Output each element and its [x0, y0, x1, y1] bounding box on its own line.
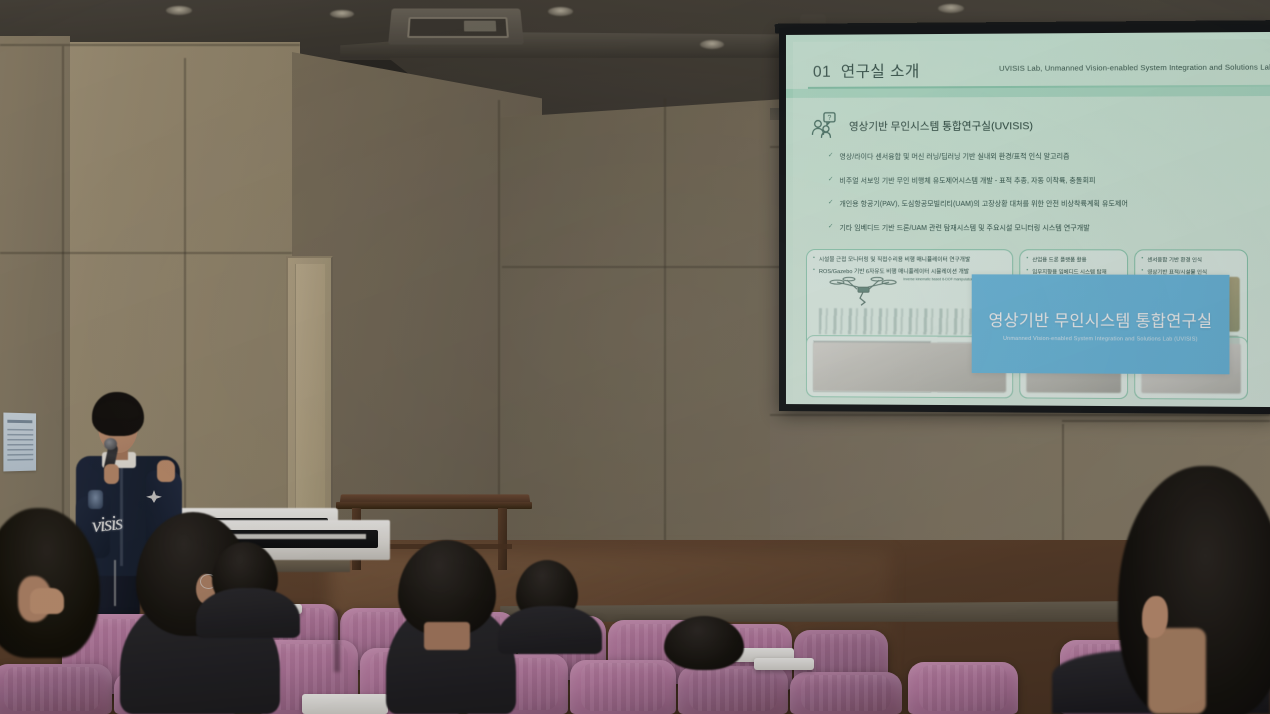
seat-divider — [334, 610, 340, 672]
wall-panel-seam — [664, 98, 666, 598]
downlight-icon — [330, 10, 354, 18]
seat-row-right[interactable] — [908, 662, 1018, 714]
content-box-line: • 시설물 근접 모니터링 및 직접수리용 비행 매니퓰레이터 연구개발 — [813, 255, 1006, 263]
bullet-text: 비주얼 서보잉 기반 무인 비행체 유도제어시스템 개발 - 표적 추종, 자동… — [839, 174, 1095, 184]
posted-notice — [3, 413, 36, 472]
presentation-slide: 01 연구실 소개 UVISIS Lab, Unmanned Vision-en… — [786, 32, 1270, 407]
bullet-dot-icon: • — [1141, 255, 1143, 263]
seat-row-middle[interactable] — [678, 666, 788, 714]
seat-tray[interactable] — [302, 694, 388, 714]
projection-screen: 01 연구실 소개 UVISIS Lab, Unmanned Vision-en… — [779, 25, 1270, 414]
slide-header: 01 연구실 소개 UVISIS Lab, Unmanned Vision-en… — [786, 52, 1270, 87]
notice-body-lines — [7, 429, 33, 463]
lab-title: 영상기반 무인시스템 통합연구실(UVISIS) — [849, 118, 1033, 134]
seat-row-front[interactable] — [0, 664, 112, 714]
slide-title: 연구실 소개 — [841, 63, 920, 80]
cable — [114, 560, 116, 606]
jacket-emblem — [88, 490, 103, 509]
bullet-text: 기타 임베디드 기반 드론/UAM 관련 탐재시스템 및 주요시설 모니터링 시… — [839, 222, 1089, 232]
seat-row-middle[interactable] — [790, 672, 902, 714]
jacket-zipper — [120, 462, 123, 566]
bullet-item: ✓ 개인용 항공기(PAV), 도심항공모빌리티(UAM)의 고장상황 대처를 … — [828, 198, 1128, 208]
overlay-callout: 영상기반 무인시스템 통합연구실 Unmanned Vision-enabled… — [972, 274, 1230, 374]
bullet-list: ✓ 영상/라이다 센서융합 및 머신 러닝/딥러닝 기반 실내외 환경/표적 인… — [828, 150, 1128, 245]
audience-shoulders — [498, 606, 602, 654]
bullet-dot-icon: • — [813, 255, 815, 263]
content-box-text: 센서융합 기반 환경 인식 — [1147, 255, 1202, 263]
svg-text:?: ? — [828, 115, 832, 122]
bullet-item: ✓ 비주얼 서보잉 기반 무인 비행체 유도제어시스템 개발 - 표적 추종, … — [828, 174, 1128, 184]
audience-hand — [30, 588, 64, 614]
lecture-hall-photo: 01 연구실 소개 UVISIS Lab, Unmanned Vision-en… — [0, 0, 1270, 714]
flying-manipulator-drone-icon — [827, 276, 901, 306]
lab-title-row: ? 영상기반 무인시스템 통합연구실(UVISIS) — [810, 110, 1033, 141]
overlay-subtitle: Unmanned Vision-enabled System Integrati… — [1003, 335, 1198, 342]
downlight-icon — [938, 4, 964, 13]
audience-neck-foreground-right — [1148, 628, 1206, 714]
check-icon: ✓ — [828, 174, 834, 184]
check-icon: ✓ — [828, 151, 834, 161]
audience-ear-foreground-right — [1142, 596, 1168, 638]
content-box-text: 시설물 근접 모니터링 및 직접수리용 비행 매니퓰레이터 연구개발 — [819, 255, 970, 263]
wall-panel-seam — [0, 252, 292, 254]
audience-shoulders — [196, 588, 300, 638]
notice-title-line — [7, 420, 32, 423]
audience-neck — [424, 622, 470, 650]
wall-panel-seam — [770, 414, 1270, 416]
seat-row-middle[interactable] — [570, 660, 676, 714]
downlight-icon — [166, 6, 192, 15]
bullet-dot-icon: • — [1026, 255, 1028, 263]
presenter-gesturing-hand — [157, 460, 175, 482]
slide-number: 01 — [813, 64, 831, 81]
seat-tray[interactable] — [754, 658, 814, 670]
presenter-hand-holding-mic — [104, 464, 119, 484]
content-box-line: • 산업용 드론 플랫폼 활용 — [1026, 255, 1121, 263]
people-speech-icon: ? — [810, 111, 840, 141]
content-box-line: • 센서융합 기반 환경 인식 — [1141, 255, 1240, 263]
check-icon: ✓ — [828, 222, 834, 232]
bullet-text: 영상/라이다 센서융합 및 머신 러닝/딥러닝 기반 실내외 환경/표적 인식 … — [839, 150, 1069, 161]
bullet-text: 개인용 항공기(PAV), 도심항공모빌리티(UAM)의 고장상황 대처를 위한… — [839, 198, 1128, 208]
content-box-text: 산업용 드론 플랫폼 활용 — [1032, 255, 1086, 263]
header-band — [786, 87, 1270, 98]
ceiling-ac-cassette-icon — [388, 9, 524, 45]
wall-panel-seam — [1062, 420, 1270, 422]
audience-head — [664, 616, 744, 670]
bullet-item: ✓ 영상/라이다 센서융합 및 머신 러닝/딥러닝 기반 실내외 환경/표적 인… — [828, 150, 1128, 161]
slide-header-subtitle: UVISIS Lab, Unmanned Vision-enabled Syst… — [999, 62, 1270, 72]
microphone-head-icon — [104, 438, 117, 450]
bullet-item: ✓ 기타 임베디드 기반 드론/UAM 관련 탐재시스템 및 주요시설 모니터링… — [828, 222, 1128, 232]
wall-panel-seam — [0, 44, 300, 46]
bench-leg — [498, 508, 507, 570]
downlight-icon — [548, 7, 573, 16]
overlay-title: 영상기반 무인시스템 통합연구실 — [989, 306, 1213, 331]
check-icon: ✓ — [828, 198, 834, 208]
downlight-icon — [700, 40, 724, 49]
slide-header-title: 01 연구실 소개 — [813, 59, 920, 82]
presenter-hair-front — [94, 400, 140, 420]
